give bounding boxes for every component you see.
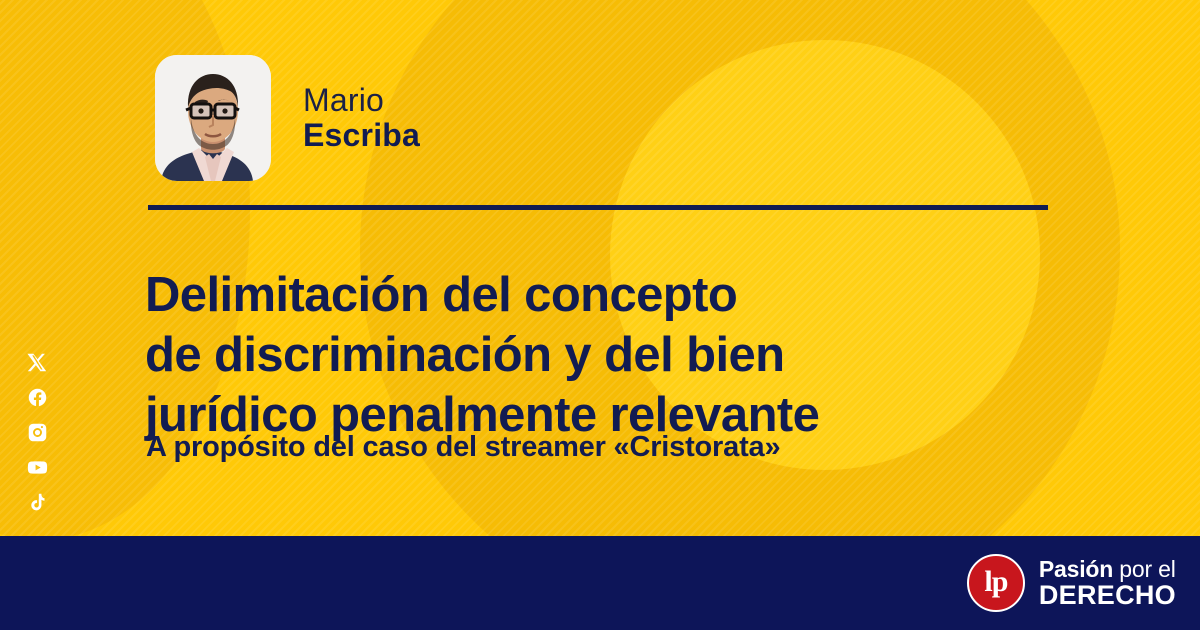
title-line-2: de discriminación y del bien: [145, 325, 1065, 385]
divider-rule: [148, 205, 1048, 210]
social-links-rail: [20, 352, 54, 513]
article-share-card: Mario Escriba Delimitación del concepto …: [0, 0, 1200, 630]
brand-text: Pasión por el DERECHO: [1039, 557, 1176, 610]
author-first-name: Mario: [303, 84, 420, 117]
brand-tagline-rest: por el: [1113, 556, 1176, 582]
tiktok-icon: [27, 492, 48, 513]
social-link-instagram[interactable]: [27, 422, 48, 443]
brand-tagline-line-1: Pasión por el: [1039, 557, 1176, 581]
social-link-tiktok[interactable]: [27, 492, 48, 513]
social-link-youtube[interactable]: [27, 457, 48, 478]
footer-bar: lp Pasión por el DERECHO: [0, 536, 1200, 630]
social-link-facebook[interactable]: [27, 387, 48, 408]
lp-logo-icon: lp: [967, 554, 1025, 612]
facebook-icon: [27, 387, 48, 408]
x-twitter-icon: [27, 352, 48, 373]
author-name: Mario Escriba: [303, 84, 420, 151]
brand-lockup: lp Pasión por el DERECHO: [967, 554, 1176, 612]
avatar: [155, 55, 271, 181]
page-title: Delimitación del concepto de discriminac…: [145, 265, 1065, 445]
author-portrait-image: [155, 55, 271, 181]
instagram-icon: [27, 422, 48, 443]
author-last-name: Escriba: [303, 119, 420, 152]
author-block: Mario Escriba: [155, 55, 420, 181]
page-subtitle: A propósito del caso del streamer «Crist…: [146, 430, 780, 464]
title-line-1: Delimitación del concepto: [145, 265, 1065, 325]
social-link-x[interactable]: [27, 352, 48, 373]
brand-tagline-line-2: DERECHO: [1039, 581, 1176, 610]
youtube-icon: [27, 457, 48, 478]
brand-tagline-bold: Pasión: [1039, 556, 1113, 582]
lp-logo-text: lp: [984, 567, 1007, 597]
